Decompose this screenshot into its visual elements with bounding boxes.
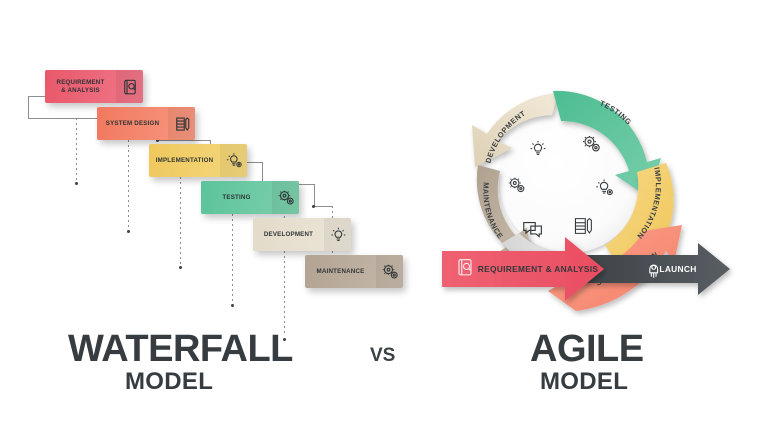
waterfall-step-label: MAINTENANCE — [305, 268, 376, 276]
waterfall-title: WATERFALL — [68, 328, 293, 371]
gears-icon — [376, 255, 403, 288]
connector-line — [158, 140, 210, 141]
agile-subtitle: MODEL — [540, 368, 628, 396]
waterfall-step-maintenance[interactable]: MAINTENANCE — [305, 255, 403, 288]
connector-line — [314, 206, 332, 207]
waterfall-subtitle: MODEL — [125, 368, 213, 396]
vs-label: VS — [370, 345, 395, 367]
waterfall-step-label: REQUIREMENT & ANALYSIS — [45, 79, 116, 95]
waterfall-step-label: TESTING — [201, 194, 272, 202]
dotted-drop-line — [76, 118, 77, 180]
agile-diagram: DEVELOPMENT TESTING IMPLEMENTATION MAINT… — [430, 55, 760, 320]
waterfall-step-label: DEVELOPMENT — [253, 231, 324, 239]
waterfall-step-development[interactable]: DEVELOPMENT — [253, 218, 351, 251]
bulb-gear-icon — [220, 144, 247, 177]
agile-requirement-label: REQUIREMENT & ANALYSIS — [478, 264, 599, 274]
connector-line — [28, 96, 29, 118]
waterfall-step-requirement-analysis[interactable]: REQUIREMENT & ANALYSIS — [45, 70, 143, 103]
dotted-drop-endpoint — [179, 266, 182, 269]
notebook-pencil-icon — [168, 107, 195, 140]
dotted-drop-line — [180, 162, 181, 264]
waterfall-step-testing[interactable]: TESTING — [201, 181, 299, 214]
waterfall-step-implementation[interactable]: IMPLEMENTATION — [149, 144, 247, 177]
connector-node — [312, 205, 315, 208]
dotted-drop-line — [128, 140, 129, 228]
dotted-drop-endpoint — [75, 182, 78, 185]
dotted-drop-endpoint — [127, 230, 130, 233]
dotted-drop-endpoint — [231, 304, 234, 307]
gears-icon — [272, 181, 299, 214]
agile-launch-label: LAUNCH — [659, 264, 696, 274]
document-search-icon — [116, 70, 143, 103]
connector-line — [314, 184, 315, 206]
waterfall-step-label: SYSTEM DESIGN — [97, 120, 168, 128]
agile-title: AGILE — [530, 328, 644, 371]
waterfall-step-system-design[interactable]: SYSTEM DESIGN — [97, 107, 195, 140]
infographic-canvas: REQUIREMENT & ANALYSIS SYSTEM DESIGN — [0, 0, 768, 432]
waterfall-step-label: IMPLEMENTATION — [149, 157, 220, 165]
bulb-icon — [324, 218, 351, 251]
